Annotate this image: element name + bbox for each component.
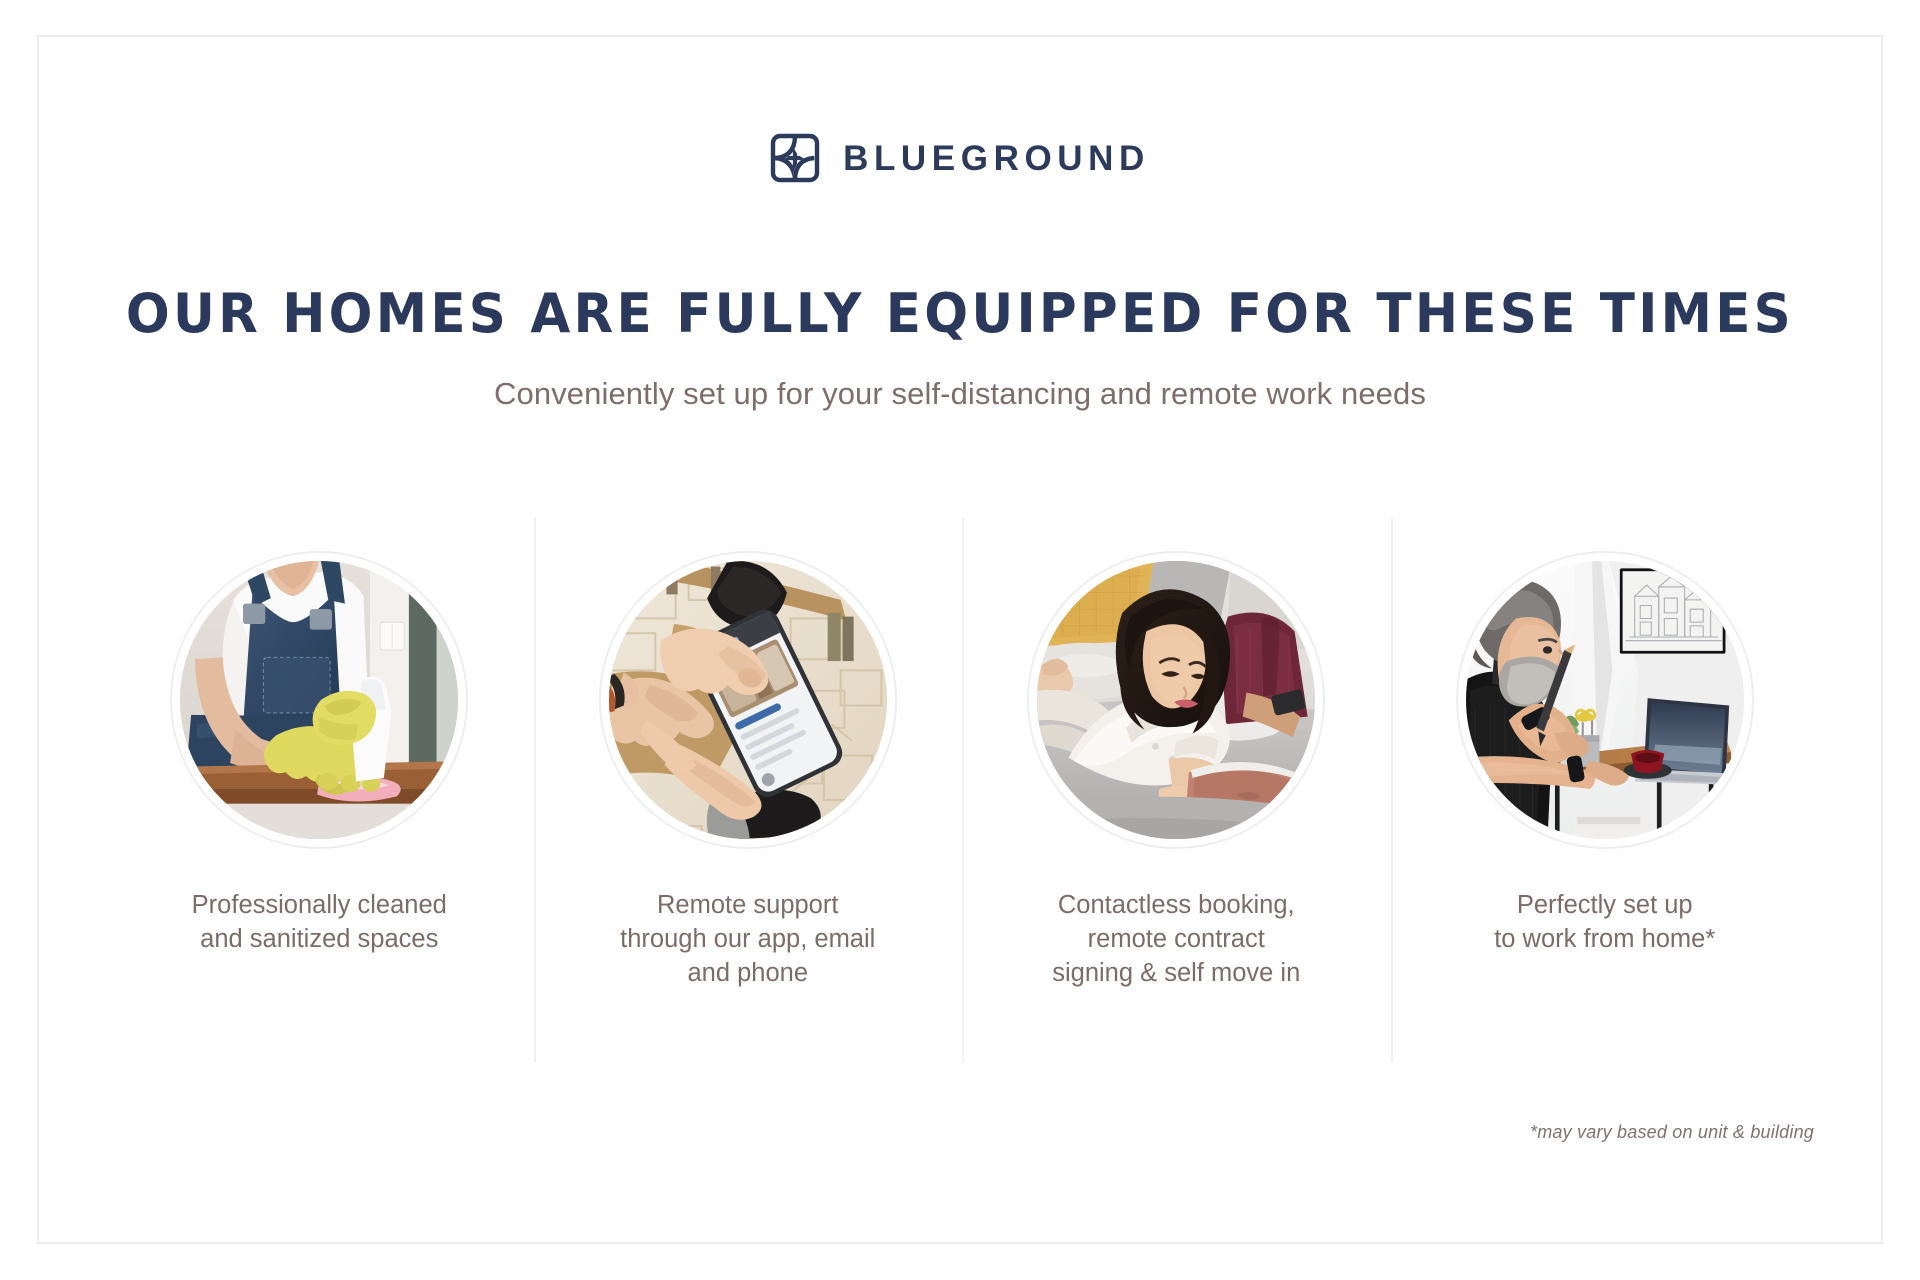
cleaning-person-with-yellow-gloves-photo (180, 561, 458, 839)
feature-image-frame (599, 551, 897, 849)
feature-item-remote-support: Remote support through our app, email an… (534, 517, 963, 991)
man-working-at-desk-with-laptop-photo (1466, 561, 1744, 839)
blueground-square-logo-icon (770, 133, 820, 183)
brand-wordmark: BLUEGROUND (843, 141, 1150, 176)
feature-image-frame (1027, 551, 1325, 849)
footnote-disclaimer: *may vary based on unit & building (1530, 1122, 1814, 1143)
feature-item-work-from-home: Perfectly set up to work from home* (1391, 517, 1820, 991)
feature-caption: Perfectly set up to work from home* (1494, 889, 1715, 957)
page-subtitle: Conveniently set up for your self-distan… (39, 375, 1881, 414)
feature-list: Professionally cleaned and sanitized spa… (105, 517, 1819, 991)
feature-caption: Contactless booking, remote contract sig… (1052, 889, 1300, 991)
feature-image-frame (1456, 551, 1754, 849)
feature-caption: Professionally cleaned and sanitized spa… (192, 889, 447, 957)
feature-item-contactless-booking: Contactless booking, remote contract sig… (962, 517, 1391, 991)
feature-item-cleaning: Professionally cleaned and sanitized spa… (105, 517, 534, 991)
hands-holding-phone-with-app-photo (609, 561, 887, 839)
infographic-card: BLUEGROUND OUR HOMES ARE FULLY EQUIPPED … (37, 35, 1883, 1244)
page-title: OUR HOMES ARE FULLY EQUIPPED FOR THESE T… (80, 286, 1839, 343)
feature-caption: Remote support through our app, email an… (620, 889, 875, 991)
brand-logo: BLUEGROUND (39, 133, 1881, 183)
woman-on-bed-using-tablet-photo (1037, 561, 1315, 839)
feature-image-frame (170, 551, 468, 849)
